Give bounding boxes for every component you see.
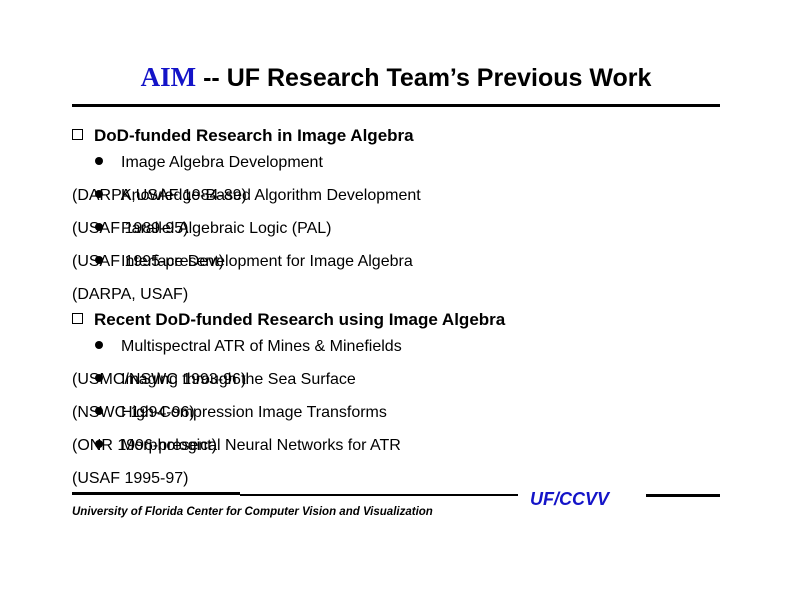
section-item-list: Image Algebra Development (DARPA,USAF 19… — [72, 154, 732, 286]
section-title: DoD-funded Research in Image Algebra — [94, 126, 414, 146]
list-item: Multispectral ATR of Mines & Minefields … — [72, 338, 732, 371]
list-item: Morphological Neural Networks for ATR (U… — [72, 437, 732, 470]
section-title: Recent DoD-funded Research using Image A… — [94, 310, 505, 330]
round-bullet-icon — [95, 256, 103, 264]
title-text: -- UF Research Team’s Previous Work — [203, 64, 651, 93]
list-item: Knowledge-Based Algorithm Development (U… — [72, 187, 732, 220]
list-item: Imaging through the Sea Surface (NSWC 19… — [72, 371, 732, 404]
list-item: High-Compression Image Transforms (ONR 1… — [72, 404, 732, 437]
slide: AIM -- UF Research Team’s Previous Work … — [0, 0, 792, 612]
round-bullet-icon — [95, 190, 103, 198]
square-bullet-icon — [72, 313, 83, 324]
footer-divider-left — [72, 492, 240, 495]
item-label: Knowledge-Based Algorithm Development — [121, 187, 421, 205]
title-accent-word: AIM — [141, 62, 197, 93]
footer-brand: UF/CCVV — [530, 489, 609, 510]
list-item: Image Algebra Development (DARPA,USAF 19… — [72, 154, 732, 187]
item-label: Imaging through the Sea Surface — [121, 371, 356, 389]
item-label: Morphological Neural Networks for ATR — [121, 437, 401, 455]
title-divider — [72, 104, 720, 107]
section-recent-research: Recent DoD-funded Research using Image A… — [72, 310, 732, 470]
footer-divider-right — [646, 494, 720, 497]
round-bullet-icon — [95, 407, 103, 415]
round-bullet-icon — [95, 440, 103, 448]
item-label: Interface Development for Image Algebra — [121, 253, 413, 271]
round-bullet-icon — [95, 157, 103, 165]
item-label: Image Algebra Development — [121, 154, 323, 172]
item-label: High-Compression Image Transforms — [121, 404, 387, 422]
section-heading-row: DoD-funded Research in Image Algebra — [72, 126, 732, 146]
list-item: Interface Development for Image Algebra … — [72, 253, 732, 286]
footer-text: University of Florida Center for Compute… — [72, 506, 433, 518]
round-bullet-icon — [95, 341, 103, 349]
section-heading-row: Recent DoD-funded Research using Image A… — [72, 310, 732, 330]
list-item: Parallel Algebraic Logic (PAL) (USAF 199… — [72, 220, 732, 253]
item-note: (DARPA, USAF) — [72, 286, 188, 303]
footer-divider-middle — [240, 494, 518, 496]
item-label: Parallel Algebraic Logic (PAL) — [121, 220, 331, 238]
section-item-list: Multispectral ATR of Mines & Minefields … — [72, 338, 732, 470]
round-bullet-icon — [95, 223, 103, 231]
square-bullet-icon — [72, 129, 83, 140]
item-label: Multispectral ATR of Mines & Minefields — [121, 338, 402, 356]
item-note: (USAF 1995-97) — [72, 470, 189, 487]
round-bullet-icon — [95, 374, 103, 382]
section-dod-funded-research: DoD-funded Research in Image Algebra Ima… — [72, 126, 732, 286]
page-title: AIM -- UF Research Team’s Previous Work — [72, 62, 720, 98]
